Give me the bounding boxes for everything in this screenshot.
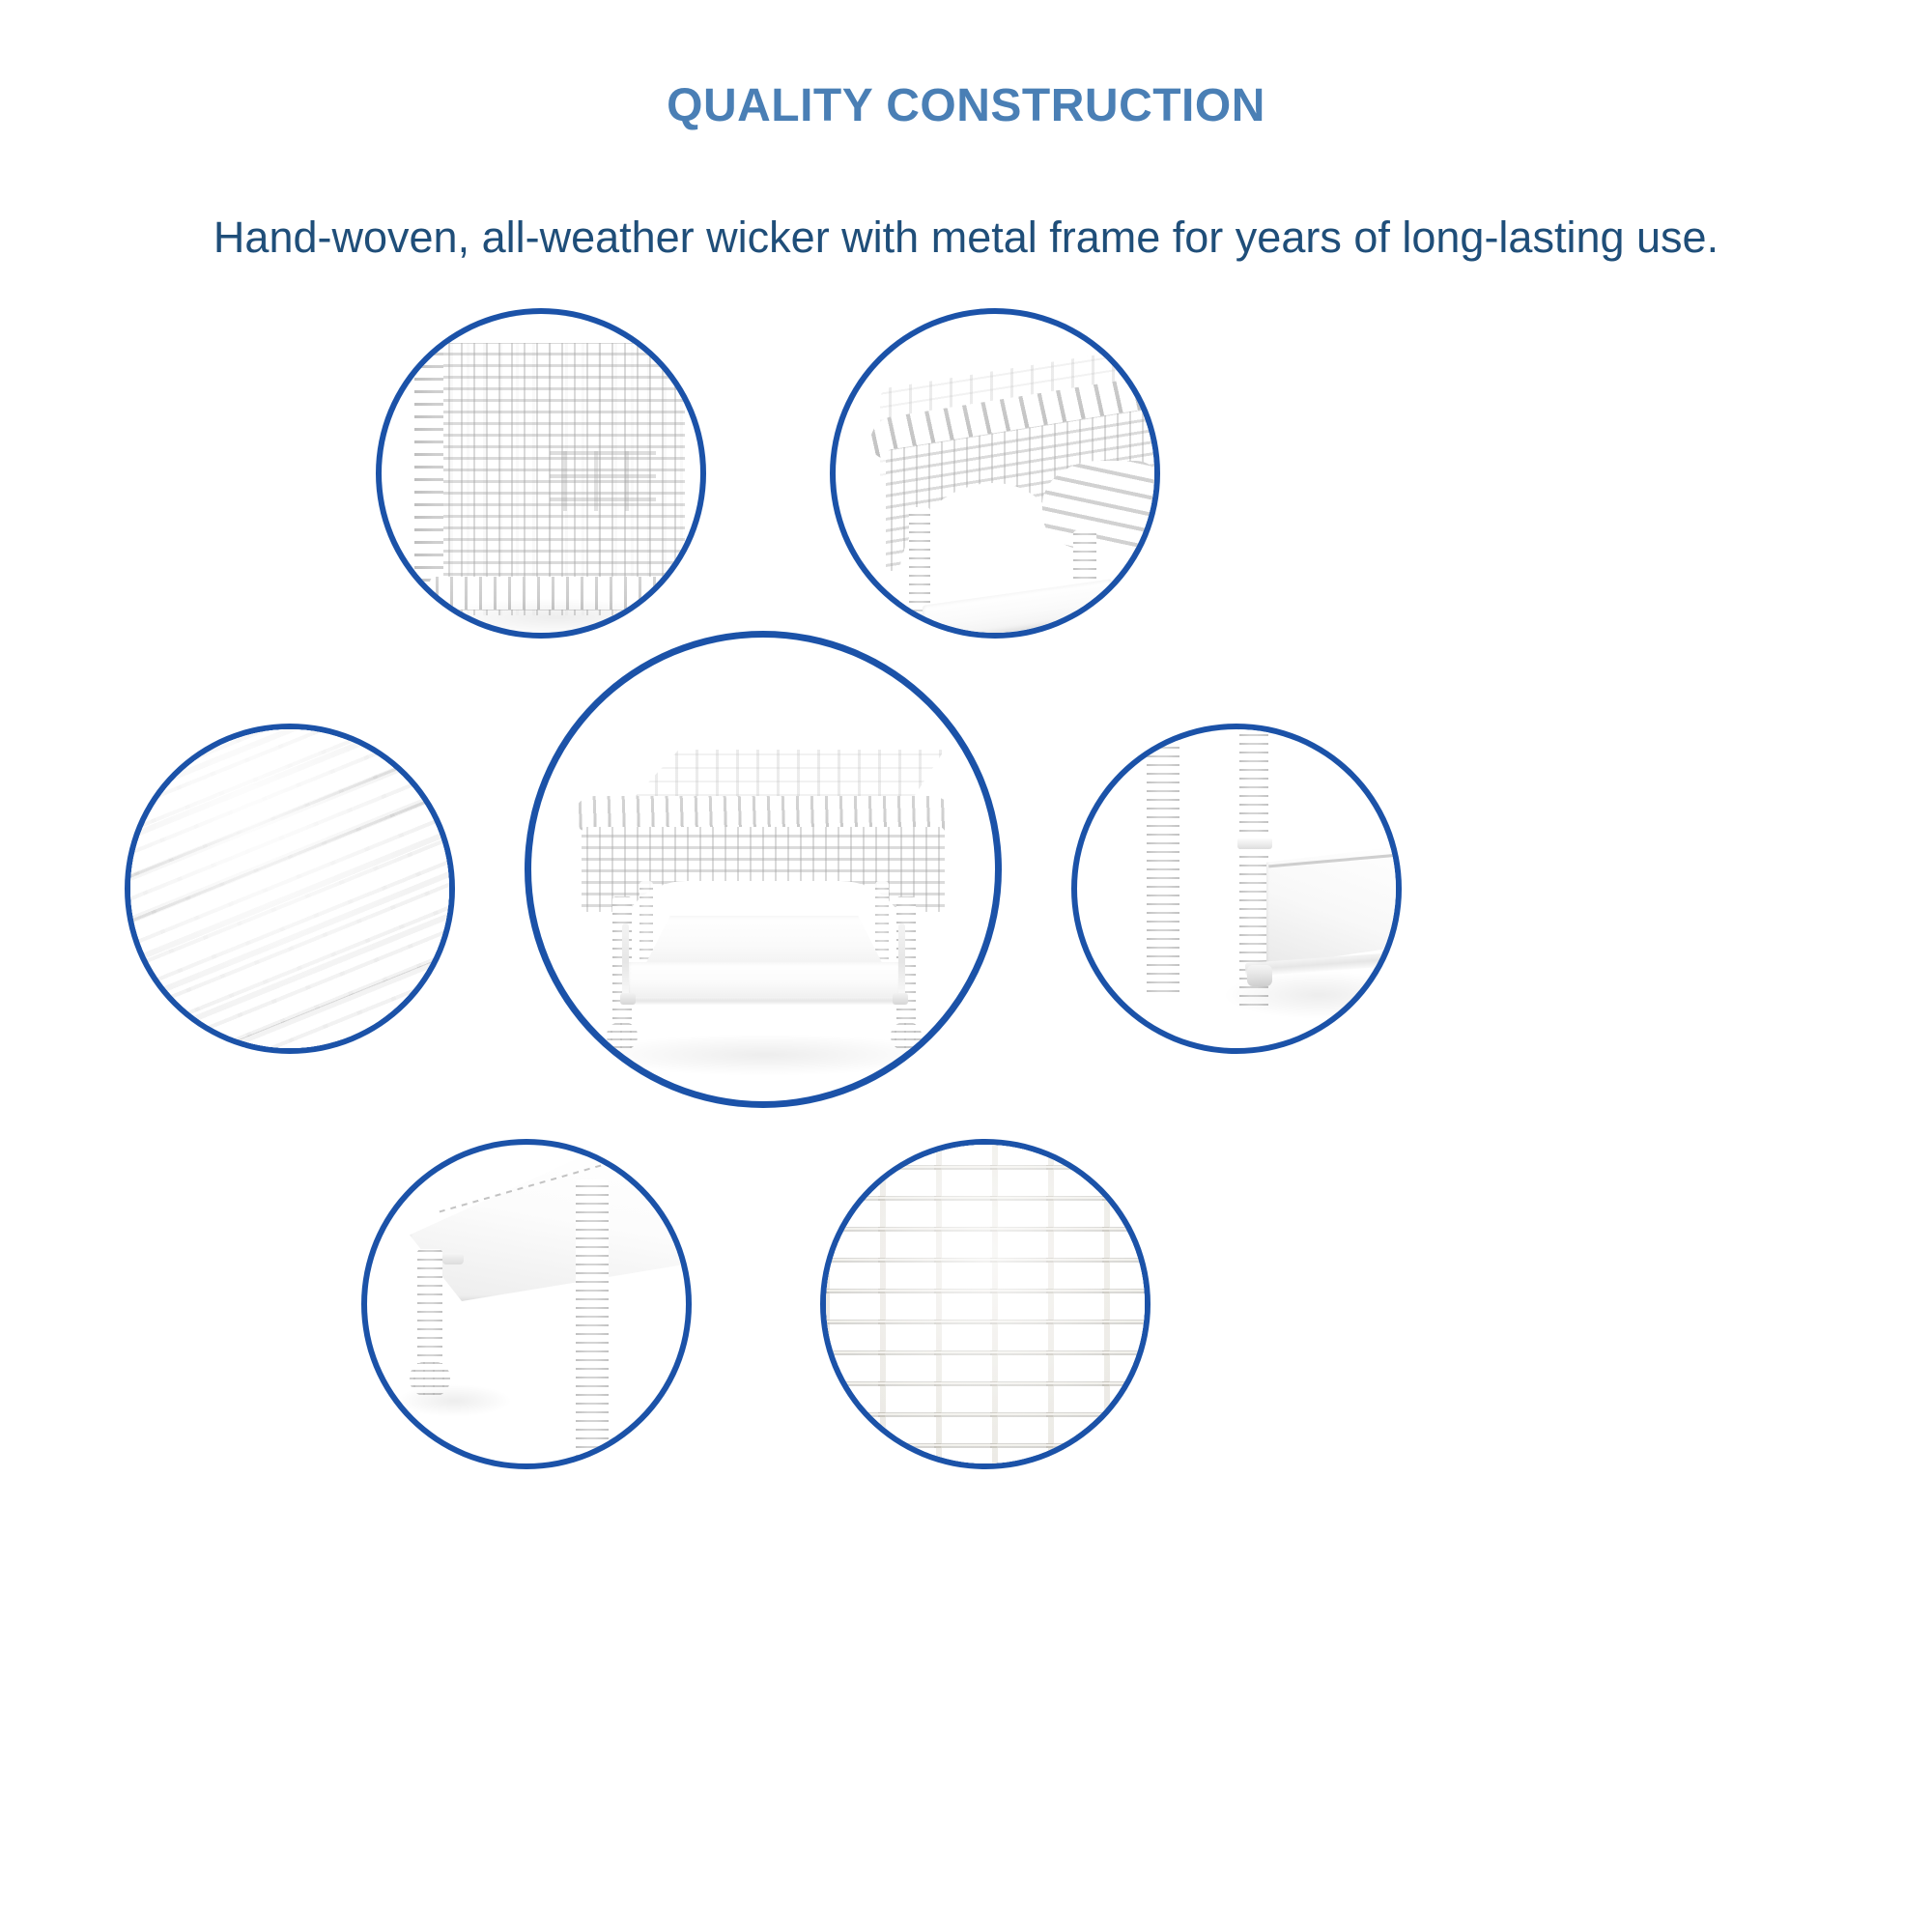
infographic-page: QUALITY CONSTRUCTION Hand-woven, all-wea…: [0, 0, 1932, 1932]
weave-macro-gloss: [130, 729, 449, 1048]
bubble-mid-left: [130, 729, 449, 1048]
foot-detail-clip: [442, 1253, 464, 1264]
foot-detail-shelf: [410, 1151, 686, 1301]
foot-detail-leg-right: [576, 1179, 609, 1463]
flat-weave-texture-detail: [826, 1145, 1145, 1463]
full-product-coffee-table: [531, 638, 995, 1101]
wicker-side-panel-detail: [382, 314, 700, 633]
detail-leg-back: [1147, 729, 1179, 996]
table-shelf-rail-left: [622, 923, 629, 1001]
table-foot-front-right: [891, 1022, 922, 1051]
corner-bulge: [1042, 461, 1154, 550]
leg-foot-and-shelf-detail: [367, 1145, 686, 1463]
detail-leg-bracket: [1237, 838, 1272, 849]
bubble-top-left: [382, 314, 700, 633]
bubble-center: [531, 638, 995, 1101]
table-shelf-bracket-left: [620, 993, 636, 1005]
flat-weave-gloss: [826, 1145, 1145, 1463]
bubble-top-right: [836, 314, 1154, 633]
bubble-bottom-right: [826, 1145, 1145, 1463]
weave-macro-detail: [130, 729, 449, 1048]
table-corner-and-leg-detail: [836, 314, 1154, 633]
table-shelf-rail-front: [624, 997, 904, 1005]
foot-detail-leg-left: [417, 1249, 442, 1369]
foot-detail-foot-left: [410, 1361, 450, 1398]
panel-bottom-rail: [430, 577, 683, 610]
bubble-bottom-left: [367, 1145, 686, 1463]
table-shelf-rail-right: [898, 923, 905, 1001]
leg-and-shelf-attachment-detail: [1077, 729, 1396, 1048]
image-collage: [0, 0, 1932, 1932]
bubble-mid-right: [1077, 729, 1396, 1048]
table-foot-front-left: [607, 1022, 638, 1051]
panel-basket-weave-accent: [550, 451, 656, 511]
detail-shelf-clip: [1247, 965, 1272, 986]
table-shelf-bracket-right: [893, 993, 908, 1005]
